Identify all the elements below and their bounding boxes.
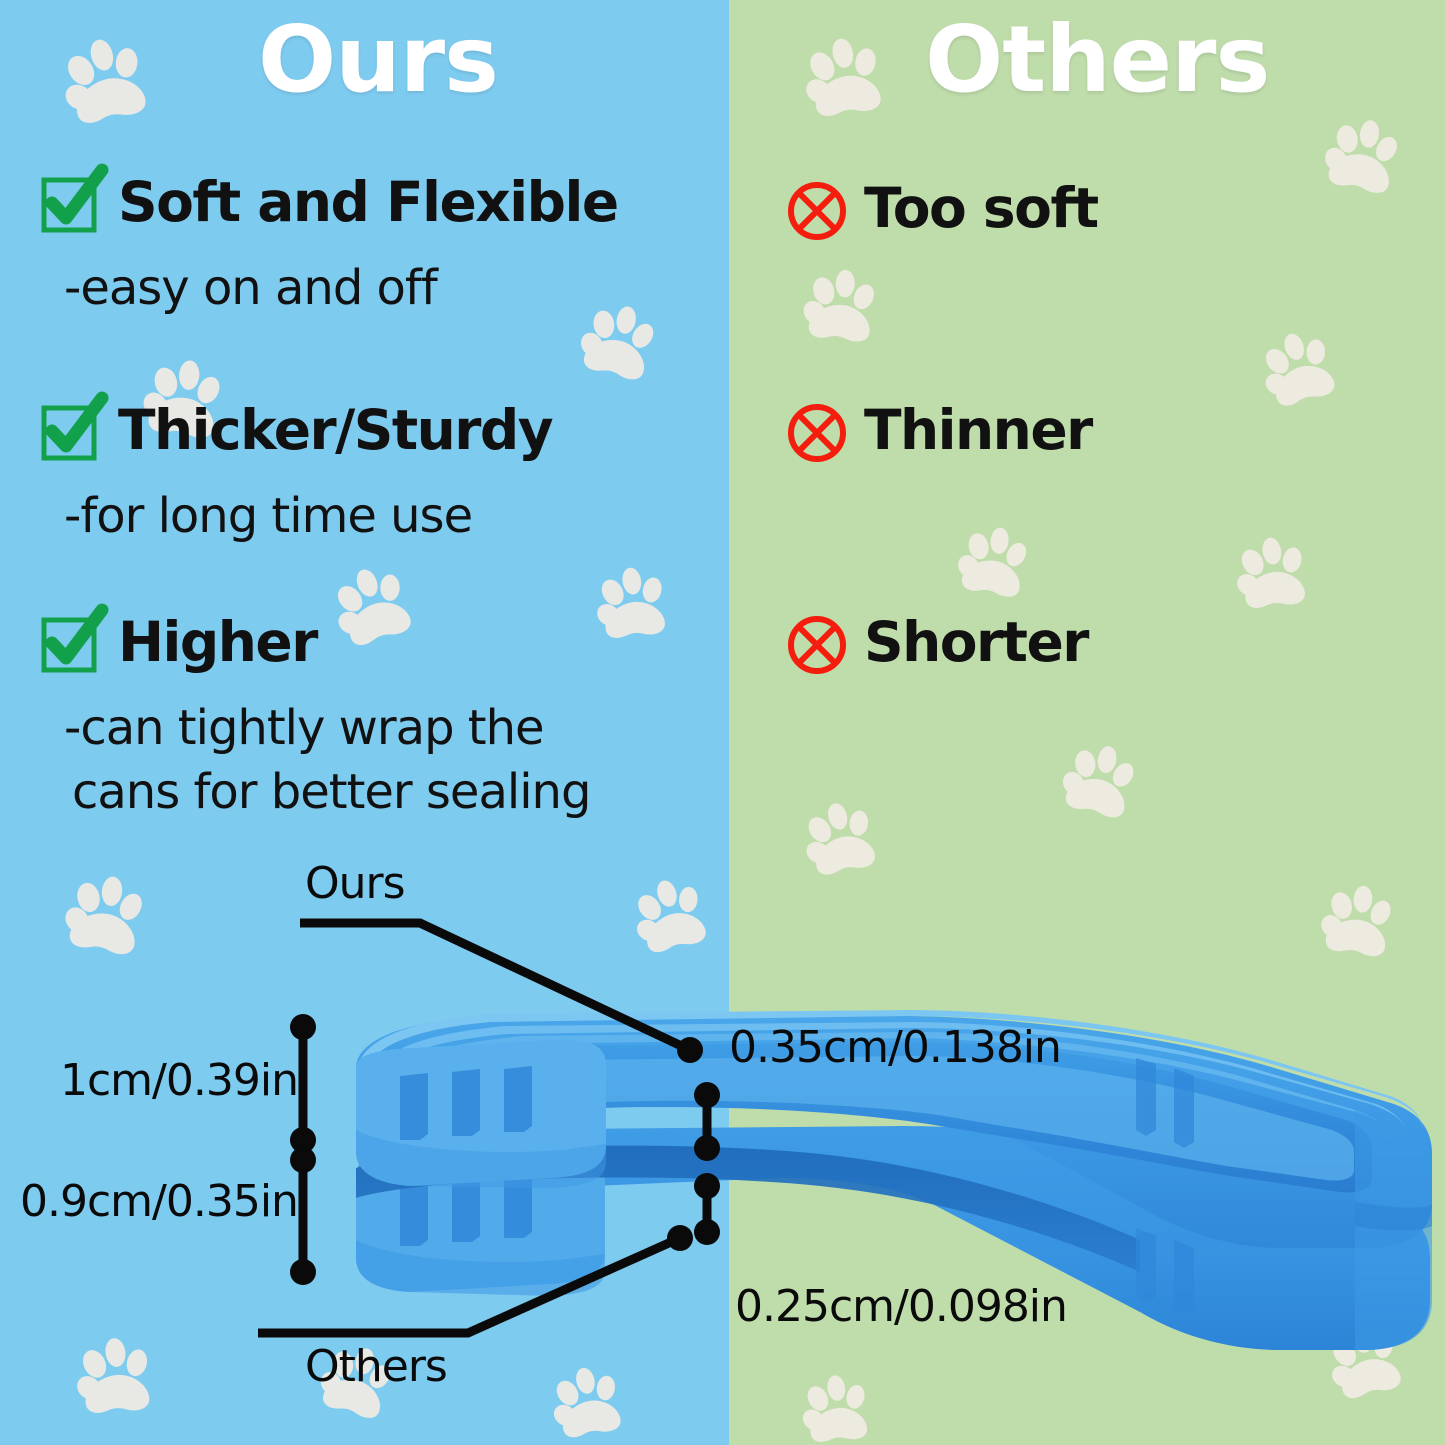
dimension-others-height: 0.9cm/0.35in xyxy=(20,1180,298,1224)
checkbox-checked-icon xyxy=(40,172,102,234)
ours-feature-subtitle: -easy on and off xyxy=(64,256,437,320)
paw-print-icon xyxy=(55,861,162,968)
checkbox-checked-icon xyxy=(40,400,102,462)
ours-feature-title: Higher xyxy=(118,612,317,672)
ours-feature-row: Soft and Flexible xyxy=(40,172,618,234)
product-photo xyxy=(300,940,1445,1410)
others-feature-row: Shorter xyxy=(786,612,1088,674)
paw-print-icon xyxy=(49,21,165,137)
checkbox-checked-icon xyxy=(40,612,102,674)
circle-x-icon xyxy=(786,612,848,674)
ours-feature-title: Thicker/Sturdy xyxy=(118,400,552,460)
circle-x-icon xyxy=(786,178,848,240)
circle-x-icon xyxy=(786,400,848,462)
ours-feature-title: Soft and Flexible xyxy=(118,172,618,232)
paw-print-icon xyxy=(1228,526,1320,618)
others-feature-row: Thinner xyxy=(786,400,1092,462)
product-callout-ours: Ours xyxy=(305,862,405,906)
ours-feature-subtitle-line2: cans for better sealing xyxy=(72,760,590,824)
ours-feature-subtitle-line1: -can tightly wrap the xyxy=(64,696,544,760)
paw-print-icon xyxy=(69,1327,165,1423)
paw-print-icon xyxy=(949,514,1044,609)
ours-feature-subtitle: -for long time use xyxy=(64,484,472,548)
others-feature-title: Shorter xyxy=(864,612,1088,672)
comparison-infographic: Ours Others Soft and Flexible -easy on a… xyxy=(0,0,1445,1445)
ours-feature-row: Thicker/Sturdy xyxy=(40,400,552,462)
ours-column-title: Ours xyxy=(258,14,498,106)
dimension-ours-thickness: 0.35cm/0.138in xyxy=(729,1026,1061,1070)
dimension-others-thickness: 0.25cm/0.098in xyxy=(735,1285,1067,1329)
paw-print-icon xyxy=(792,787,892,887)
product-callout-others: Others xyxy=(305,1345,447,1389)
others-feature-row: Too soft xyxy=(786,178,1098,240)
paw-print-icon xyxy=(796,258,891,353)
paw-print-icon xyxy=(588,556,680,648)
ours-feature-row: Higher xyxy=(40,612,317,674)
paw-print-icon xyxy=(794,24,898,128)
others-feature-title: Too soft xyxy=(864,178,1098,238)
others-column-title: Others xyxy=(925,14,1269,106)
paw-print-icon xyxy=(1314,104,1416,206)
others-feature-title: Thinner xyxy=(864,400,1092,460)
dimension-ours-height: 1cm/0.39in xyxy=(60,1059,298,1103)
